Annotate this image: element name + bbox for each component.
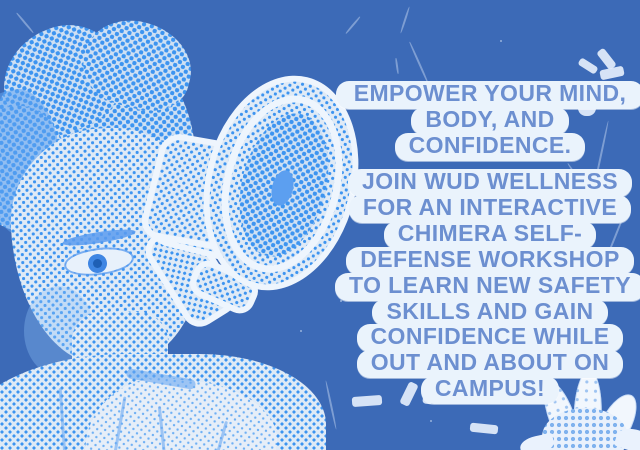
body-line: CHIMERA SELF-	[384, 221, 597, 249]
headline-line: BODY, AND	[411, 107, 568, 135]
headline-line: EMPOWER YOUR MIND,	[336, 81, 640, 109]
headline-speech-bubble: EMPOWER YOUR MIND, BODY, AND CONFIDENCE.	[0, 82, 640, 160]
body-speech-bubble: JOIN WUD WELLNESS FOR AN INTERACTIVE CHI…	[0, 170, 640, 403]
body-line: JOIN WUD WELLNESS	[348, 169, 632, 197]
body-line: CAMPUS!	[421, 376, 559, 404]
poster-canvas: EMPOWER YOUR MIND, BODY, AND CONFIDENCE.…	[0, 0, 640, 450]
headline-line: CONFIDENCE.	[395, 133, 586, 161]
body-line: FOR AN INTERACTIVE	[349, 195, 631, 223]
flower-leaf	[519, 433, 556, 450]
body-line: CONFIDENCE WHILE	[357, 324, 624, 352]
body-line: SKILLS AND GAIN	[372, 299, 607, 327]
body-line: OUT AND ABOUT ON	[357, 350, 624, 378]
body-line: TO LEARN NEW SAFETY	[335, 273, 640, 301]
body-line: DEFENSE WORKSHOP	[346, 247, 633, 275]
